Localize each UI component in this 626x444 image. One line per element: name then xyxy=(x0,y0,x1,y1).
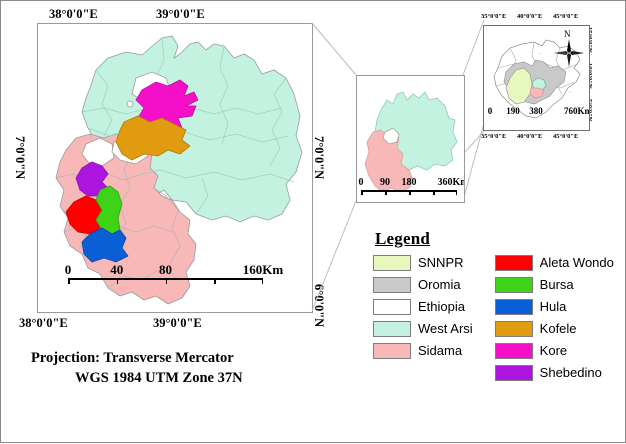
legend-label-shebedino: Shebedino xyxy=(540,366,602,379)
projection-line-2: WGS 1984 UTM Zone 37N xyxy=(31,369,341,389)
ethiopia-inset-panel[interactable]: N 0 190 380 760Km xyxy=(483,25,590,131)
mid-scalebar-tick-3: 360Km xyxy=(437,177,465,188)
legend-item-west-arsi[interactable]: West Arsi xyxy=(373,319,473,338)
legend-swatch-snnpr xyxy=(373,255,411,271)
main-scalebar-tick-2: 80 xyxy=(159,262,172,278)
main-map-x-label-top-1: 38°0'0"E xyxy=(49,7,98,22)
legend-swatch-ethiopia xyxy=(373,299,411,315)
legend-item-hula[interactable]: Hula xyxy=(495,297,614,316)
legend-swatch-sidama xyxy=(373,343,411,359)
eth-scalebar-tick-0: 0 xyxy=(488,106,493,116)
legend-item-kore[interactable]: Kore xyxy=(495,341,614,360)
legend-swatch-shebedino xyxy=(495,365,533,381)
eth-x-label-top-1: 35°0'0"E xyxy=(481,13,506,20)
mid-inset-panel[interactable]: 0 90 180 360Km xyxy=(356,75,465,203)
legend-column-regions: SNNPR Oromia Ethiopia West Arsi Sidama xyxy=(373,253,473,382)
lake-feature xyxy=(127,101,133,107)
legend-label-kofele: Kofele xyxy=(540,322,577,335)
legend-label-sidama: Sidama xyxy=(418,344,462,357)
projection-line-1: Projection: Transverse Mercator xyxy=(31,349,341,369)
legend-swatch-west-arsi xyxy=(373,321,411,337)
main-scalebar-tick-1: 40 xyxy=(110,262,123,278)
main-scalebar-tick-3: 160Km xyxy=(243,262,283,278)
mid-scalebar-tick-1: 90 xyxy=(380,177,390,188)
legend-swatch-kore xyxy=(495,343,533,359)
legend-label-kore: Kore xyxy=(540,344,567,357)
eth-x-label-top-3: 45°0'0"E xyxy=(553,13,578,20)
main-map-panel[interactable]: 0 40 80 160Km xyxy=(37,23,313,313)
legend-label-hula: Hula xyxy=(540,300,567,313)
eth-scalebar-tick-1: 190 xyxy=(506,106,520,116)
study-area-figure: 38°0'0"E 39°0'0"E 38°0'0"E 39°0'0"E 7°0'… xyxy=(1,1,625,442)
legend-column-districts: Aleta Wondo Bursa Hula Kofele Kore xyxy=(495,253,614,382)
legend: Legend SNNPR Oromia Ethiopia West Arsi xyxy=(373,229,619,389)
legend-label-ethiopia: Ethiopia xyxy=(418,300,465,313)
legend-item-ethiopia[interactable]: Ethiopia xyxy=(373,297,473,316)
legend-swatch-bursa xyxy=(495,277,533,293)
main-scalebar-tick-0: 0 xyxy=(65,262,72,278)
legend-item-aleta-wondo[interactable]: Aleta Wondo xyxy=(495,253,614,272)
ethiopia-inset-wrapper: 35°0'0"E 40°0'0"E 45°0'0"E 35°0'0"E 40°0… xyxy=(459,7,619,149)
legend-item-bursa[interactable]: Bursa xyxy=(495,275,614,294)
eth-x-label-bottom-3: 45°0'0"E xyxy=(553,133,578,140)
legend-swatch-oromia xyxy=(373,277,411,293)
mid-scalebar-tick-2: 180 xyxy=(402,177,417,188)
eth-scalebar-tick-2: 380 xyxy=(529,106,543,116)
legend-label-oromia: Oromia xyxy=(418,278,461,291)
legend-item-oromia[interactable]: Oromia xyxy=(373,275,473,294)
main-map-x-label-top-2: 39°0'0"E xyxy=(156,7,205,22)
mid-scalebar-tick-0: 0 xyxy=(359,177,364,188)
legend-swatch-hula xyxy=(495,299,533,315)
legend-item-sidama[interactable]: Sidama xyxy=(373,341,473,360)
main-map-y-label-left: 7°0'0"N xyxy=(12,136,27,179)
legend-item-snnpr[interactable]: SNNPR xyxy=(373,253,473,272)
legend-swatch-aleta-wondo xyxy=(495,255,533,271)
main-map-y-label-right-2: 6°0'0"N xyxy=(311,284,326,327)
legend-label-snnpr: SNNPR xyxy=(418,256,464,269)
main-map-x-label-bottom-2: 39°0'0"E xyxy=(153,316,202,331)
eth-x-label-bottom-1: 35°0'0"E xyxy=(481,133,506,140)
legend-label-west-arsi: West Arsi xyxy=(418,322,473,335)
legend-label-bursa: Bursa xyxy=(540,278,574,291)
eth-x-label-bottom-2: 40°0'0"E xyxy=(517,133,542,140)
legend-swatch-kofele xyxy=(495,321,533,337)
projection-note: Projection: Transverse Mercator WGS 1984… xyxy=(31,349,341,388)
compass-star-icon xyxy=(553,38,585,68)
eth-scalebar-tick-3: 760Km xyxy=(564,106,590,116)
legend-label-aleta-wondo: Aleta Wondo xyxy=(540,256,614,269)
legend-item-kofele[interactable]: Kofele xyxy=(495,319,614,338)
main-map-x-label-bottom-1: 38°0'0"E xyxy=(19,316,68,331)
legend-title: Legend xyxy=(375,229,619,249)
legend-item-shebedino[interactable]: Shebedino xyxy=(495,363,614,382)
main-map-y-label-right-1: 7°0'0"N xyxy=(311,136,326,179)
eth-x-label-top-2: 40°0'0"E xyxy=(517,13,542,20)
